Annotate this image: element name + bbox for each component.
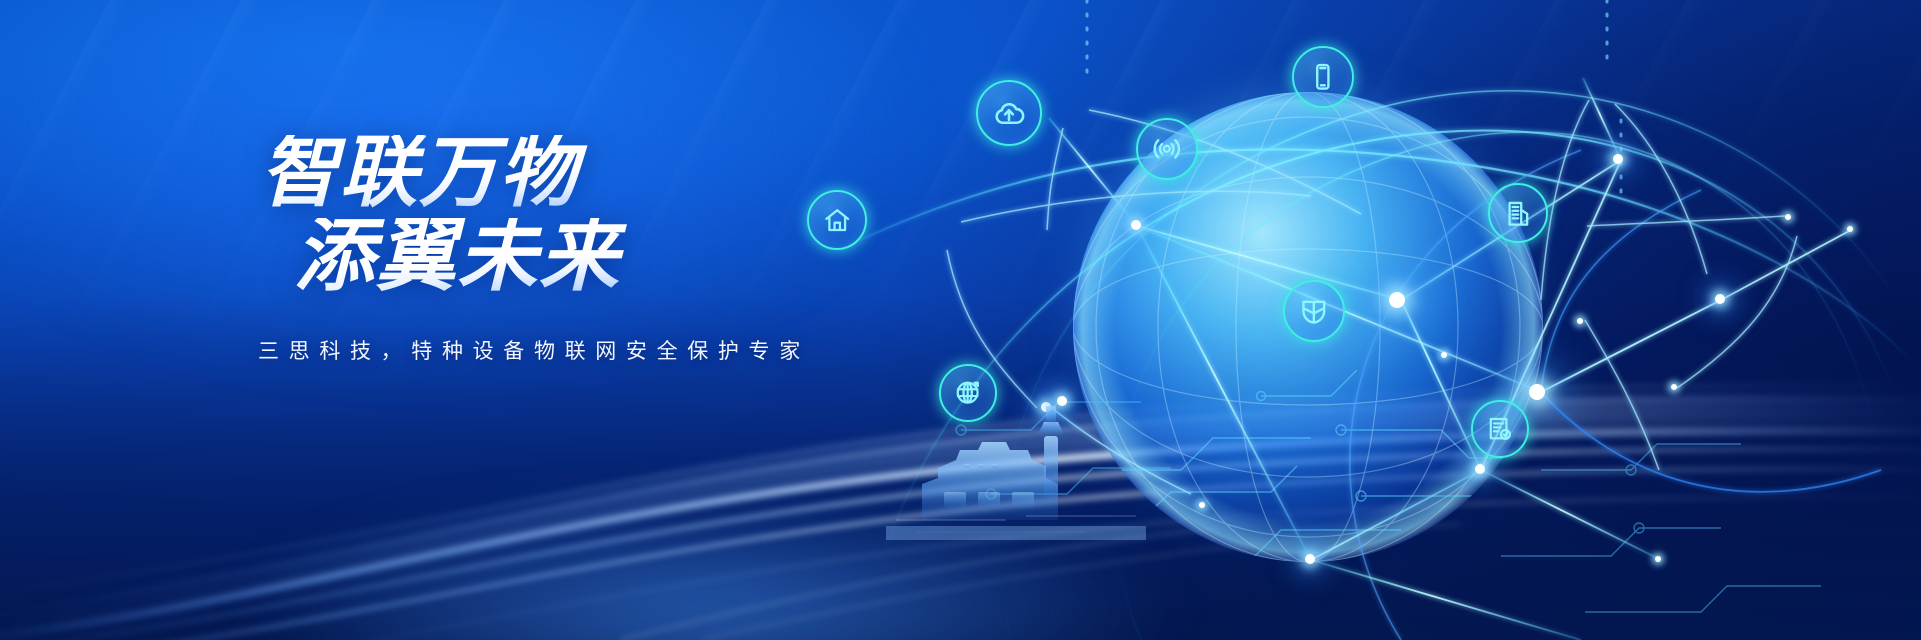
shield-icon[interactable]: [1283, 280, 1345, 342]
network-node-spark: [1199, 502, 1205, 508]
network-node-spark: [1715, 294, 1725, 304]
network-node-spark: [1577, 318, 1583, 324]
network-node-spark: [1785, 214, 1791, 220]
network-graphic: [841, 0, 1921, 640]
smartphone-icon[interactable]: [1292, 46, 1354, 108]
globe-icon[interactable]: [939, 364, 997, 422]
network-node-spark: [1389, 292, 1405, 308]
network-node-spark: [1613, 154, 1623, 164]
hero-banner: 智联万物 添翼未来 三思科技，特种设备物联网安全保护专家: [0, 0, 1921, 640]
network-node-spark: [1529, 384, 1545, 400]
home-icon[interactable]: [807, 190, 867, 250]
certificate-icon[interactable]: [1471, 400, 1529, 458]
network-node-spark: [1305, 554, 1315, 564]
network-node-spark: [1847, 226, 1853, 232]
wifi-signal-icon[interactable]: [1136, 118, 1198, 180]
city-skyline-silhouette: [886, 380, 1146, 540]
building-icon[interactable]: [1488, 183, 1548, 243]
network-node-spark: [1655, 556, 1661, 562]
cloud-upload-icon[interactable]: [976, 80, 1042, 146]
network-node-spark: [1131, 220, 1141, 230]
lighthouse-beacon-spark: [1057, 396, 1067, 406]
network-node-spark: [1441, 352, 1447, 358]
network-node-spark: [1671, 384, 1677, 390]
network-node-spark: [1475, 464, 1485, 474]
